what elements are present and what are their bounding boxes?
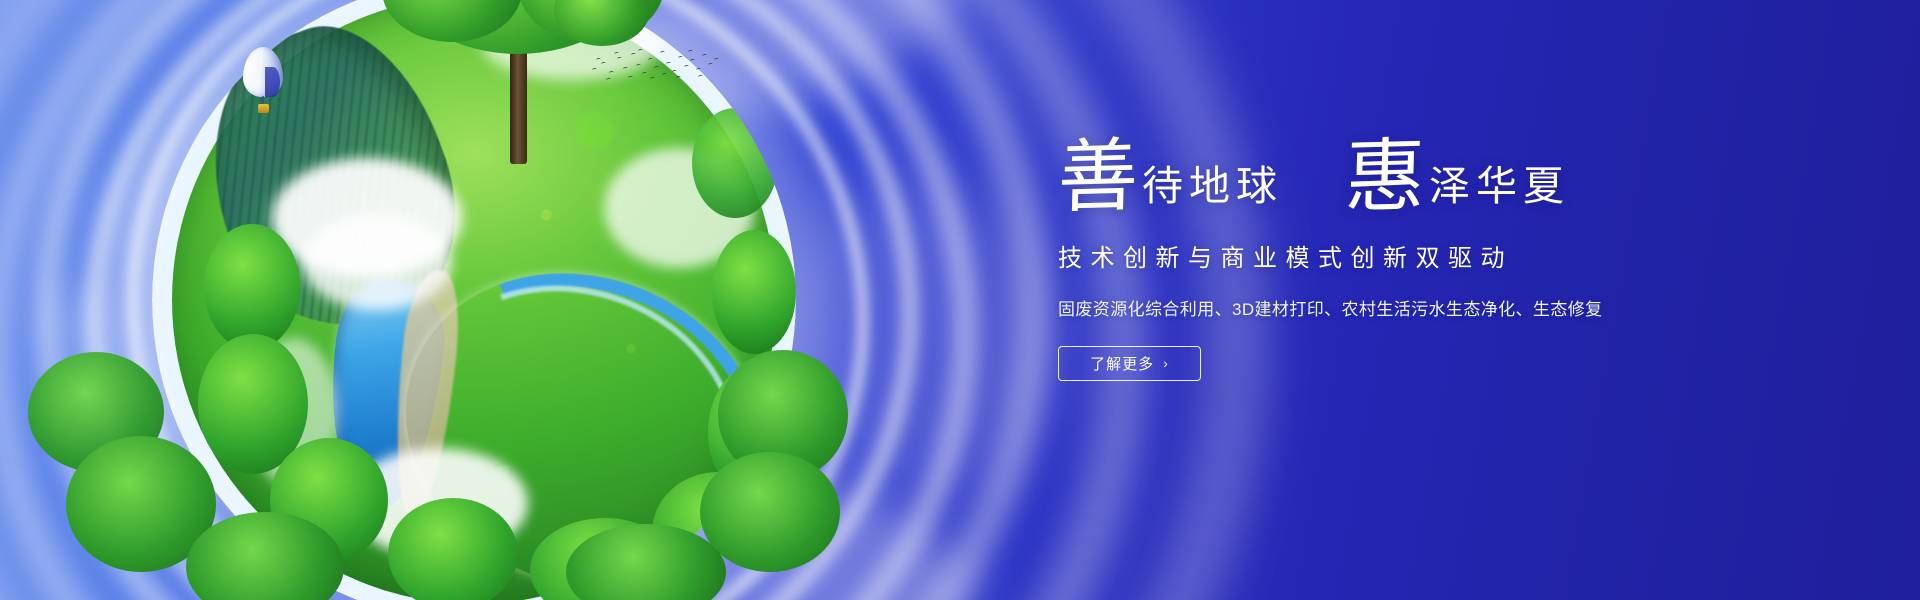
bird-icon <box>606 78 612 83</box>
chevron-right-icon: › <box>1163 356 1169 370</box>
headline-rest-2: 泽华夏 <box>1429 166 1570 207</box>
bird-icon <box>690 59 696 64</box>
bird-flock-icon <box>590 46 720 88</box>
bird-icon <box>617 57 623 62</box>
hero-description: 固废资源化综合利用、3D建材打印、农村生活污水生态净化、生态修复 <box>1058 295 1818 320</box>
hero-copy: 善 待地球 惠 泽华夏 技术创新与商业模式创新双驱动 固废资源化综合利用、3D建… <box>1058 140 1818 381</box>
bird-icon <box>654 66 660 71</box>
planet-cloud <box>302 214 452 310</box>
bird-icon <box>609 71 615 76</box>
rim-tree <box>712 230 796 354</box>
bird-icon <box>688 50 694 55</box>
bird-icon <box>696 68 702 73</box>
hero-banner: 善 待地球 惠 泽华夏 技术创新与商业模式创新双驱动 固废资源化综合利用、3D建… <box>0 0 1920 600</box>
bird-icon <box>662 73 668 78</box>
bird-icon <box>648 58 654 63</box>
rim-tree <box>388 498 518 600</box>
bird-icon <box>698 75 704 80</box>
balloon-basket <box>258 104 269 113</box>
bird-icon <box>708 63 714 68</box>
rim-tree <box>692 108 778 218</box>
headline-rest-1: 待地球 <box>1142 166 1283 207</box>
learn-more-label: 了解更多 <box>1090 353 1154 374</box>
bird-icon <box>650 77 656 82</box>
page-title: 善 待地球 惠 泽华夏 <box>1058 140 1818 214</box>
bird-icon <box>666 62 672 67</box>
bird-icon <box>601 62 607 67</box>
bird-icon <box>596 58 602 63</box>
bird-icon <box>636 64 642 69</box>
bird-icon <box>642 72 648 77</box>
rim-tree <box>204 224 300 350</box>
bird-icon <box>638 49 644 54</box>
hero-subtitle: 技术创新与商业模式创新双驱动 <box>1058 238 1818 273</box>
bird-icon <box>628 76 634 81</box>
bird-icon <box>678 56 684 61</box>
bird-icon <box>676 76 682 81</box>
bird-icon <box>631 53 637 58</box>
headline-lead-char-1: 善 <box>1057 139 1139 215</box>
balloon-stripe <box>265 67 280 97</box>
bird-icon <box>660 51 666 56</box>
big-tree <box>368 0 668 182</box>
bird-icon <box>592 68 598 73</box>
bird-icon <box>614 52 620 57</box>
bird-icon <box>702 54 708 59</box>
learn-more-button[interactable]: 了解更多 › <box>1058 346 1201 381</box>
outer-tree <box>700 452 840 572</box>
bird-icon <box>684 65 690 70</box>
hot-air-balloon-icon <box>243 47 283 119</box>
bird-icon <box>623 67 629 72</box>
bird-icon <box>714 58 720 63</box>
headline-lead-char-2: 惠 <box>1344 139 1426 215</box>
bird-icon <box>672 70 678 75</box>
